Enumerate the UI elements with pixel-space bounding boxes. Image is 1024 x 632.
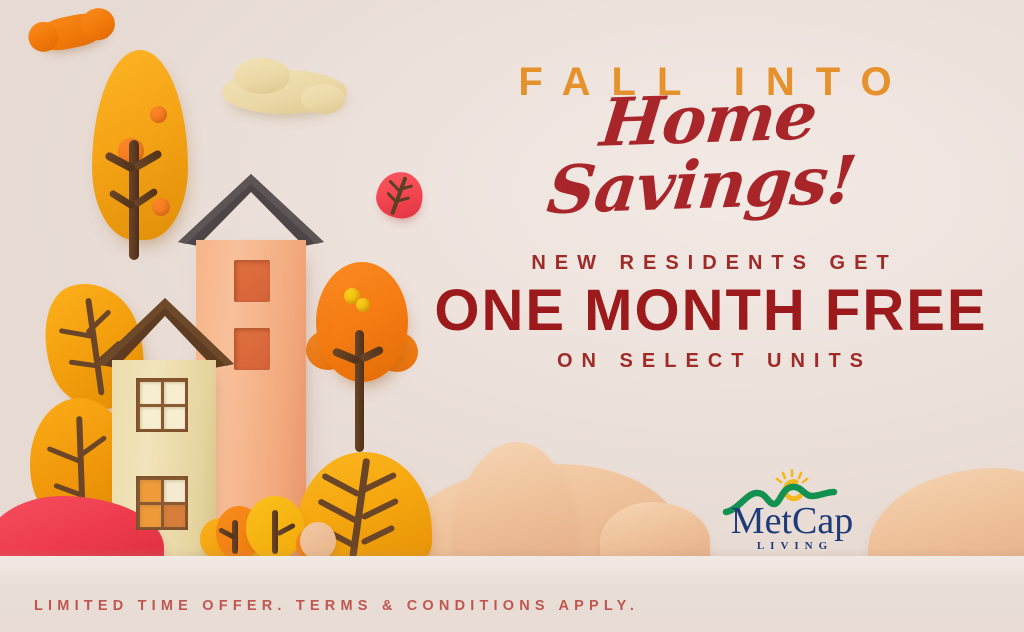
tree-berry-icon [150, 106, 167, 123]
leaf-vein [317, 498, 359, 524]
window-pane [140, 382, 161, 404]
cream-cloud-shape [222, 70, 347, 114]
offer-eyebrow: NEW RESIDENTS GET [430, 252, 990, 275]
window-pane [164, 407, 185, 429]
window-pane [140, 480, 161, 502]
disclaimer-text: LIMITED TIME OFFER. TERMS & CONDITIONS A… [34, 598, 639, 614]
leaf-vein [361, 498, 400, 521]
window-pane [164, 505, 185, 527]
offer-headline: ONE MONTH FREE [430, 279, 990, 344]
red-leaf [372, 167, 428, 223]
window-pane [164, 382, 185, 404]
orange-cloud-shape [31, 9, 110, 56]
window-pane [140, 505, 161, 527]
ground-plane [0, 556, 1024, 632]
background-hill-right [868, 468, 1024, 560]
tall-tree-canopy [92, 50, 188, 240]
metcap-logo[interactable]: MetCap LIVING [722, 466, 862, 562]
round-tree-trunk [355, 330, 364, 452]
headline-home-savings: Home Savings! [462, 78, 948, 226]
window-pane [164, 480, 185, 502]
roof-shape [176, 172, 326, 248]
leaf-vein [321, 472, 361, 497]
tree-berry-icon [152, 198, 170, 216]
headline-block: FALL INTO Home Savings! [470, 62, 940, 218]
peach-house-roof [176, 172, 326, 248]
tree-berry-icon [356, 298, 370, 312]
offer-block: NEW RESIDENTS GET ONE MONTH FREE ON SELE… [430, 252, 990, 373]
window-pane [140, 407, 161, 429]
peach-house-window-upper [234, 260, 270, 302]
logo-tagline: LIVING [722, 540, 862, 552]
promotional-banner: FALL INTO Home Savings! NEW RESIDENTS GE… [0, 0, 1024, 632]
leaf-vein [361, 524, 396, 545]
cream-house-roof [94, 296, 236, 370]
background-hill-left-bump [455, 442, 575, 560]
offer-subline: ON SELECT UNITS [430, 350, 990, 373]
peach-house-window-lower [234, 328, 270, 370]
roof-shape [94, 296, 236, 370]
logo-wordmark: MetCap [722, 502, 862, 540]
